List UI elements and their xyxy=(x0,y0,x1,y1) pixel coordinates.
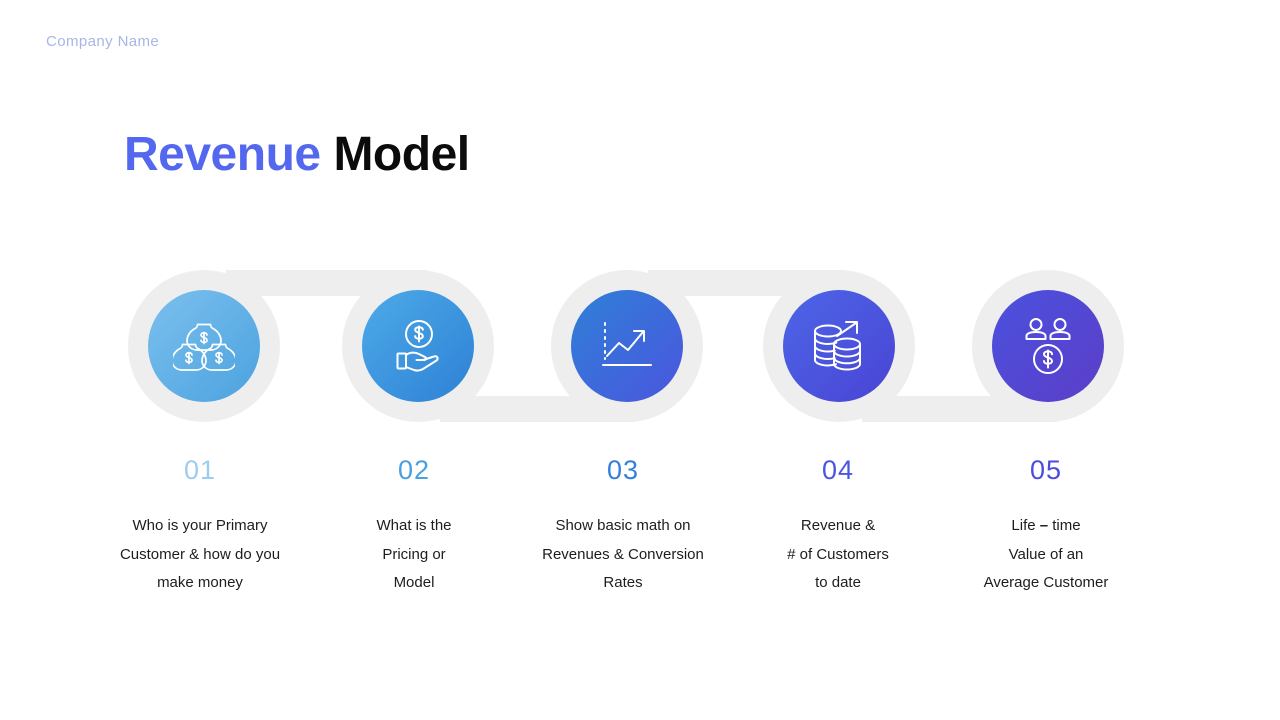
step-description-2-line-3: Model xyxy=(294,569,534,598)
step-number-3: 03 xyxy=(503,452,743,488)
step-description-5-line-3: Average Customer xyxy=(926,569,1166,598)
hand-holding-coin-icon xyxy=(389,317,447,375)
step-number-5: 05 xyxy=(926,452,1166,488)
step-number-2: 02 xyxy=(294,452,534,488)
step-description-4-line-1: Revenue & xyxy=(718,512,958,541)
step-description-3: Show basic math on Revenues & Conversion… xyxy=(503,512,743,598)
step-node-3[interactable] xyxy=(571,290,683,402)
step-description-5-line-1-part-b: time xyxy=(1048,517,1081,534)
step-description-1-line-3: make money xyxy=(80,569,320,598)
customers-value-icon xyxy=(1021,317,1075,375)
step-column-1: 01 Who is your Primary Customer & how do… xyxy=(80,452,320,598)
step-description-3-line-3: Rates xyxy=(503,569,743,598)
page-title-plain: Model xyxy=(333,128,469,181)
step-description-2: What is the Pricing or Model xyxy=(294,512,534,598)
step-column-2: 02 What is the Pricing or Model xyxy=(294,452,534,598)
step-description-1-line-2: Customer & how do you xyxy=(80,541,320,570)
step-description-1: Who is your Primary Customer & how do yo… xyxy=(80,512,320,598)
growth-chart-icon xyxy=(599,319,655,373)
step-node-2[interactable] xyxy=(362,290,474,402)
step-column-5: 05 Life – time Value of an Average Custo… xyxy=(926,452,1166,598)
step-description-5-line-1-part-a: Life xyxy=(1011,517,1039,534)
step-description-3-line-1: Show basic math on xyxy=(503,512,743,541)
step-number-1: 01 xyxy=(80,452,320,488)
step-column-3: 03 Show basic math on Revenues & Convers… xyxy=(503,452,743,598)
company-name: Company Name xyxy=(46,33,159,50)
step-description-1-line-1: Who is your Primary xyxy=(80,512,320,541)
step-column-4: 04 Revenue & # of Customers to date xyxy=(718,452,958,598)
step-description-4: Revenue & # of Customers to date xyxy=(718,512,958,598)
step-description-2-line-2: Pricing or xyxy=(294,541,534,570)
money-bags-icon xyxy=(173,317,235,375)
step-description-4-line-3: to date xyxy=(718,569,958,598)
process-diagram xyxy=(0,262,1280,432)
page-title: Revenue Model xyxy=(124,124,470,186)
coin-stacks-arrow-icon xyxy=(810,318,868,374)
step-description-5-dash: – xyxy=(1040,517,1048,534)
step-number-4: 04 xyxy=(718,452,958,488)
step-description-4-line-2: # of Customers xyxy=(718,541,958,570)
step-description-5-line-1: Life – time xyxy=(926,512,1166,541)
step-node-4[interactable] xyxy=(783,290,895,402)
step-node-5[interactable] xyxy=(992,290,1104,402)
step-description-2-line-1: What is the xyxy=(294,512,534,541)
step-description-5: Life – time Value of an Average Customer xyxy=(926,512,1166,598)
page-title-accent: Revenue xyxy=(124,128,321,181)
step-description-3-line-2: Revenues & Conversion xyxy=(503,541,743,570)
step-node-1[interactable] xyxy=(148,290,260,402)
step-description-5-line-2: Value of an xyxy=(926,541,1166,570)
